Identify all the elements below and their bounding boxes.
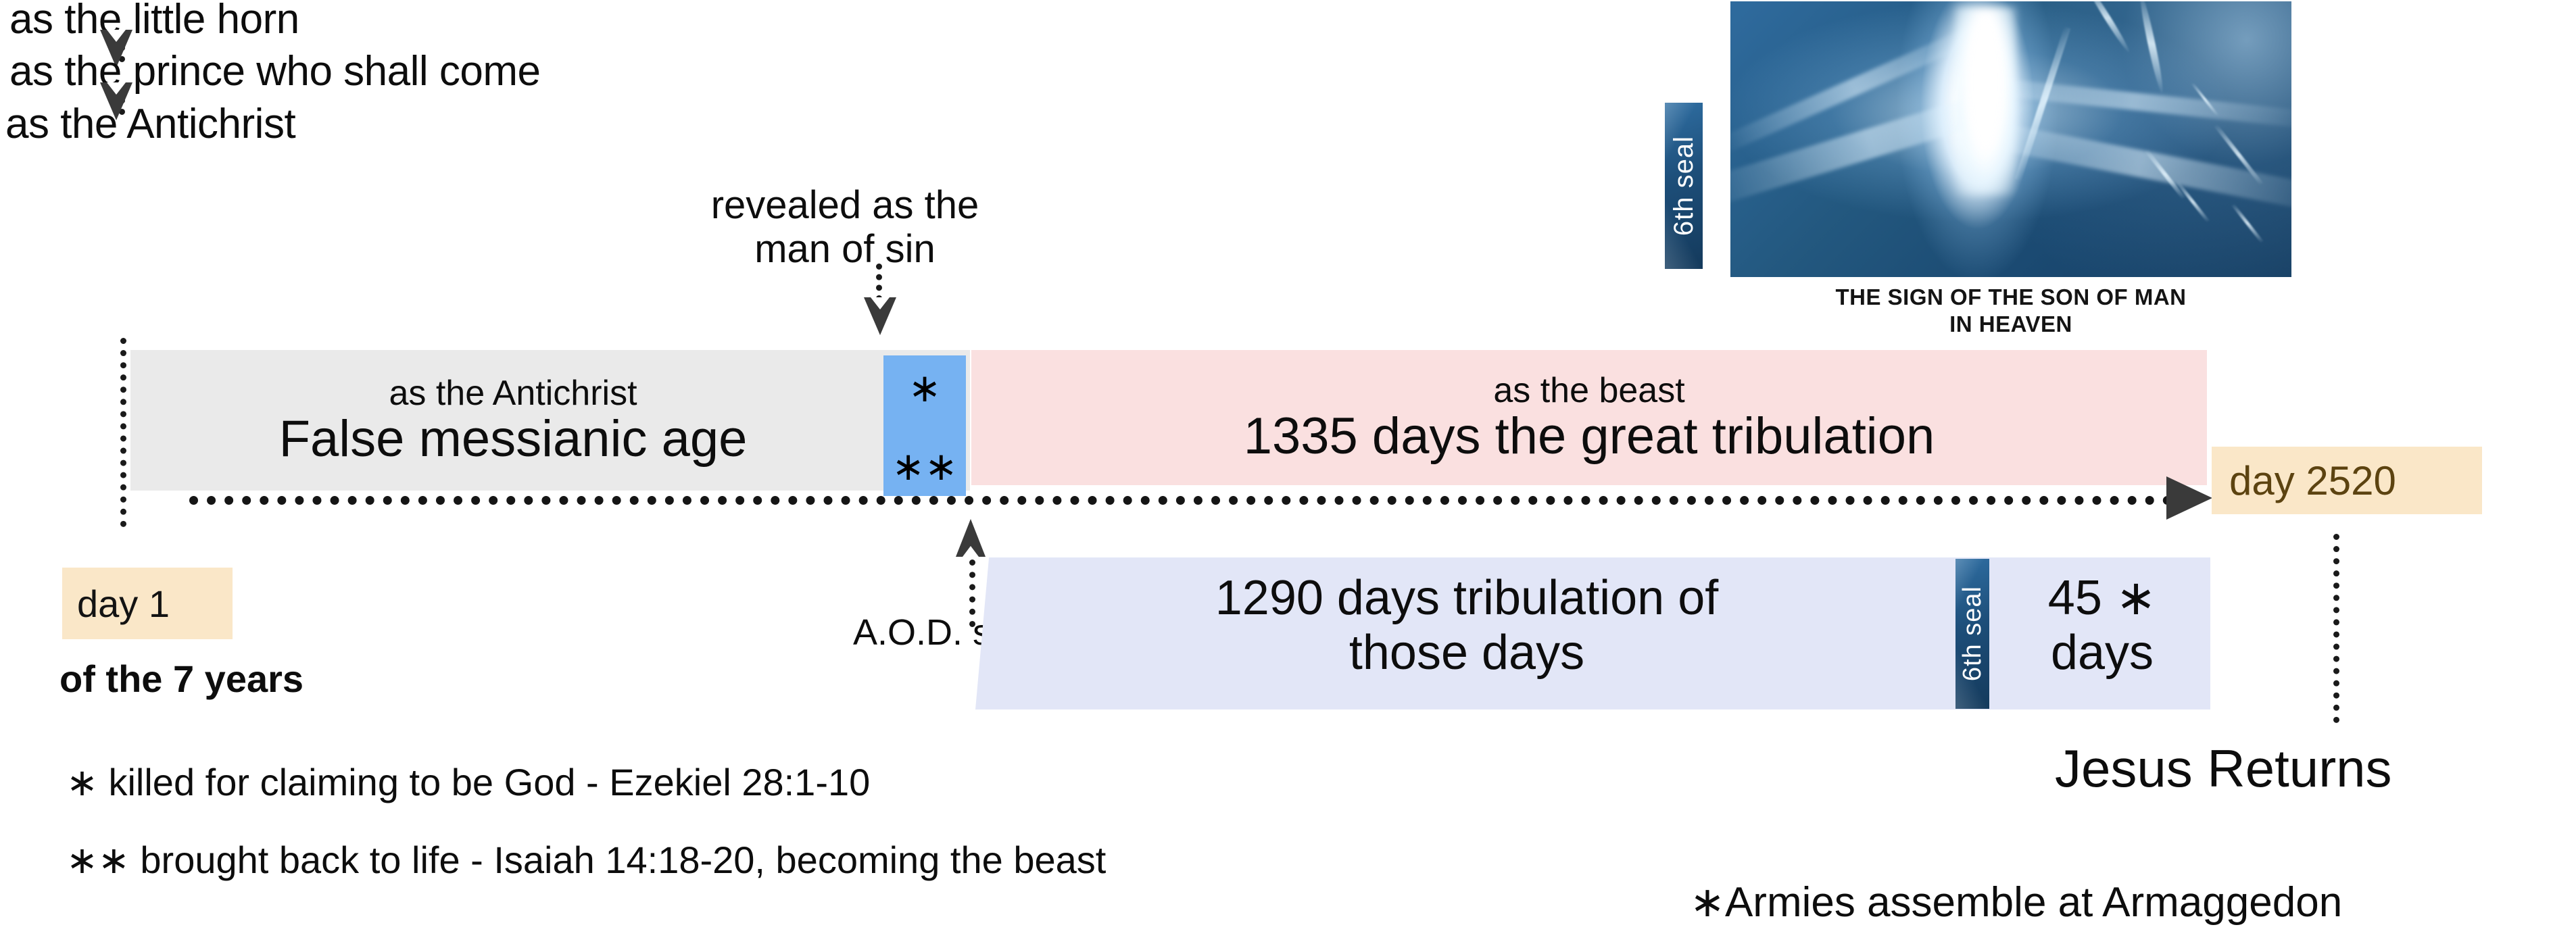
bar-false-messianic-age: as the Antichrist False messianic age (130, 350, 970, 491)
seal-ribbon-hero-label: 6th seal (1669, 136, 1699, 236)
seal-ribbon-lavender: 6th seal (1955, 559, 1989, 709)
bar-lav-tail-line2: days (2001, 626, 2204, 680)
chip-day-1: day 1 (62, 568, 233, 639)
arrow-notch-aod (963, 546, 979, 557)
segment-death-and-resurrection: ∗ ∗∗ (883, 355, 966, 496)
bar-pink-sublabel: as the beast (1493, 372, 1684, 409)
seal-ribbon-hero: 6th seal (1665, 103, 1703, 269)
label-of-the-7-years: of the 7 years (59, 657, 303, 701)
bar-lav-tail-line1: 45 ∗ (2001, 571, 2204, 626)
arrow-notch-man-of-sin (871, 297, 890, 309)
footnote-two-star: ∗∗ brought back to life - Isaiah 14:18-2… (66, 838, 1106, 882)
arrow-notch-1 (107, 30, 126, 42)
connector-dots-man-of-sin (876, 264, 882, 301)
callout-revealed-line1: revealed as the (669, 184, 1021, 228)
footnote-one-star: ∗ killed for claiming to be God - Ezekie… (66, 760, 870, 805)
segment-star-top: ∗ (883, 369, 966, 408)
segment-star-bottom: ∗∗ (883, 447, 966, 487)
prophecy-timeline-diagram: as the little horn as the prince who sha… (0, 0, 2576, 946)
hero-caption: THE SIGN OF THE SON OF MAN IN HEAVEN (1730, 284, 2291, 339)
bar-gray-sublabel: as the Antichrist (389, 375, 637, 412)
callout-revealed-line2: man of sin (669, 228, 1021, 272)
title-little-horn: as the little horn (9, 0, 299, 41)
hero-caption-line1: THE SIGN OF THE SON OF MAN (1730, 284, 2291, 311)
marker-line-jesus-returns (2333, 534, 2339, 723)
title-antichrist: as the Antichrist (5, 103, 295, 145)
bar-lav-maintext: 1290 days tribulation of those days (1027, 571, 1906, 680)
hero-caption-line2: IN HEAVEN (1730, 311, 2291, 338)
arrow-notch-2 (107, 82, 126, 95)
chip-day-2520: day 2520 (2212, 447, 2482, 514)
footnote-armageddon: ∗Armies assemble at Armaggedon (1690, 877, 2342, 926)
seal-ribbon-lavender-label: 6th seal (1958, 586, 1987, 681)
timeline-axis-arrowhead-icon (2166, 476, 2212, 520)
timeline-axis-dotted (189, 496, 2190, 505)
bar-pink-mainlabel: 1335 days the great tribulation (1244, 409, 1935, 463)
label-jesus-returns: Jesus Returns (2055, 738, 2392, 799)
bar-gray-mainlabel: False messianic age (279, 412, 748, 466)
bar-lav-line1: 1290 days tribulation of (1027, 571, 1906, 626)
sign-of-son-of-man-image (1730, 1, 2291, 277)
title-prince: as the prince who shall come (9, 51, 541, 93)
callout-revealed-man-of-sin: revealed as the man of sin (669, 184, 1021, 272)
bar-lav-tail-45-days: 45 ∗ days (2001, 571, 2204, 680)
bar-great-tribulation: as the beast 1335 days the great tribula… (971, 350, 2207, 485)
bar-lav-line2: those days (1027, 626, 1906, 680)
marker-line-day1 (120, 338, 126, 527)
